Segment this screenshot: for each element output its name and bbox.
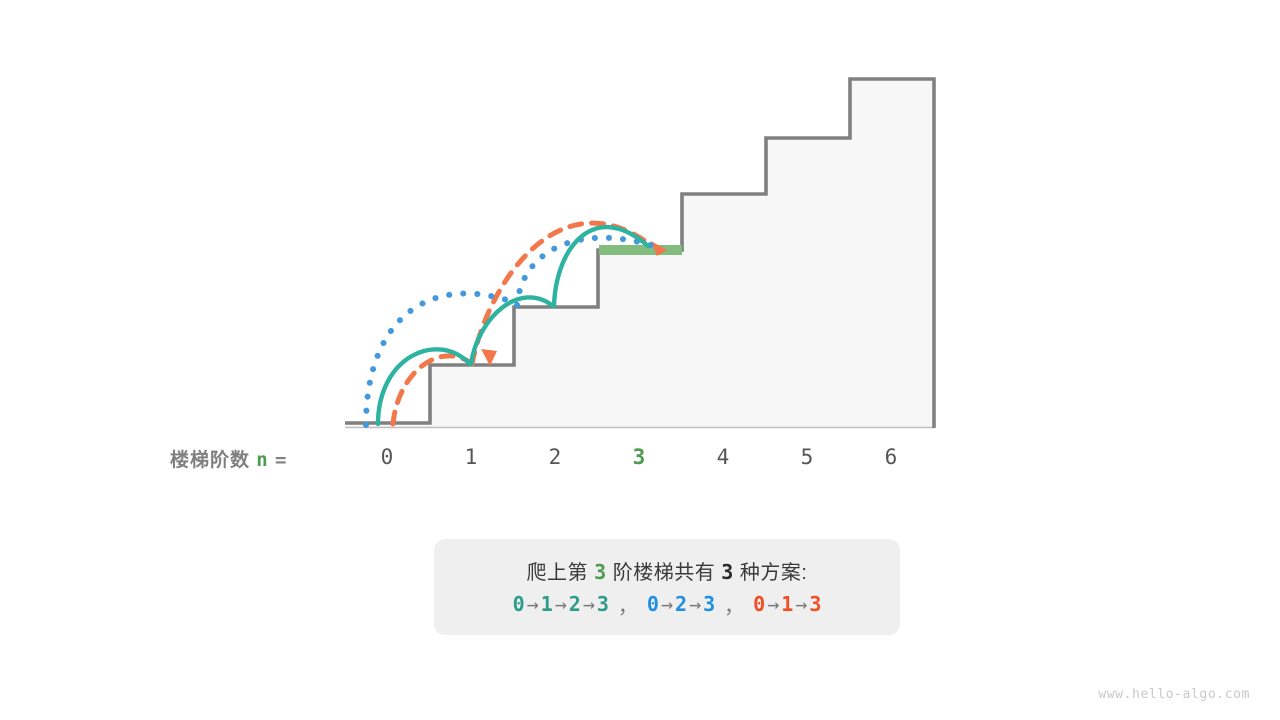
caption-line-2: 0 → 1 → 2 → 3 ， 0 → 2 → 3 ， 0 → 1 → 3 [513, 590, 822, 619]
path-2-arrow-0: → [659, 592, 675, 616]
path-2-node-2: 3 [703, 592, 715, 616]
watermark: www.hello-algo.com [1098, 687, 1250, 702]
path-1-node-2: 2 [569, 592, 581, 616]
caption-separator-2: ， [715, 590, 753, 619]
path-1-node-0: 0 [513, 592, 525, 616]
caption-part-1: 爬上第 [527, 562, 589, 584]
caption-separator-1: ， [609, 590, 647, 619]
path-3-node-2: 3 [809, 592, 821, 616]
path-2-arrow-1: → [687, 592, 703, 616]
path-1-node-1: 1 [541, 592, 553, 616]
path-1-arrow-1: → [553, 592, 569, 616]
path-2-node-1: 2 [675, 592, 687, 616]
path-3-arrow-1: → [793, 592, 809, 616]
path-2-node-0: 0 [647, 592, 659, 616]
caption-part-2: 阶楼梯共有 [613, 562, 716, 584]
path-3-node-1: 1 [781, 592, 793, 616]
path-1-arrow-2: → [581, 592, 597, 616]
caption-step-number: 3 [594, 560, 607, 584]
path-3-node-0: 0 [753, 592, 765, 616]
caption-line-1: 爬上第 3 阶楼梯共有 3 种方案: [527, 556, 808, 585]
caption-count-number: 3 [721, 560, 734, 584]
path-1-arrow-0: → [525, 592, 541, 616]
caption-part-3: 种方案: [740, 562, 808, 584]
caption-panel: 爬上第 3 阶楼梯共有 3 种方案: 0 → 1 → 2 → 3 ， 0 → 2… [434, 539, 900, 635]
path-3-arrow-0: → [765, 592, 781, 616]
path-1-node-3: 3 [597, 592, 609, 616]
